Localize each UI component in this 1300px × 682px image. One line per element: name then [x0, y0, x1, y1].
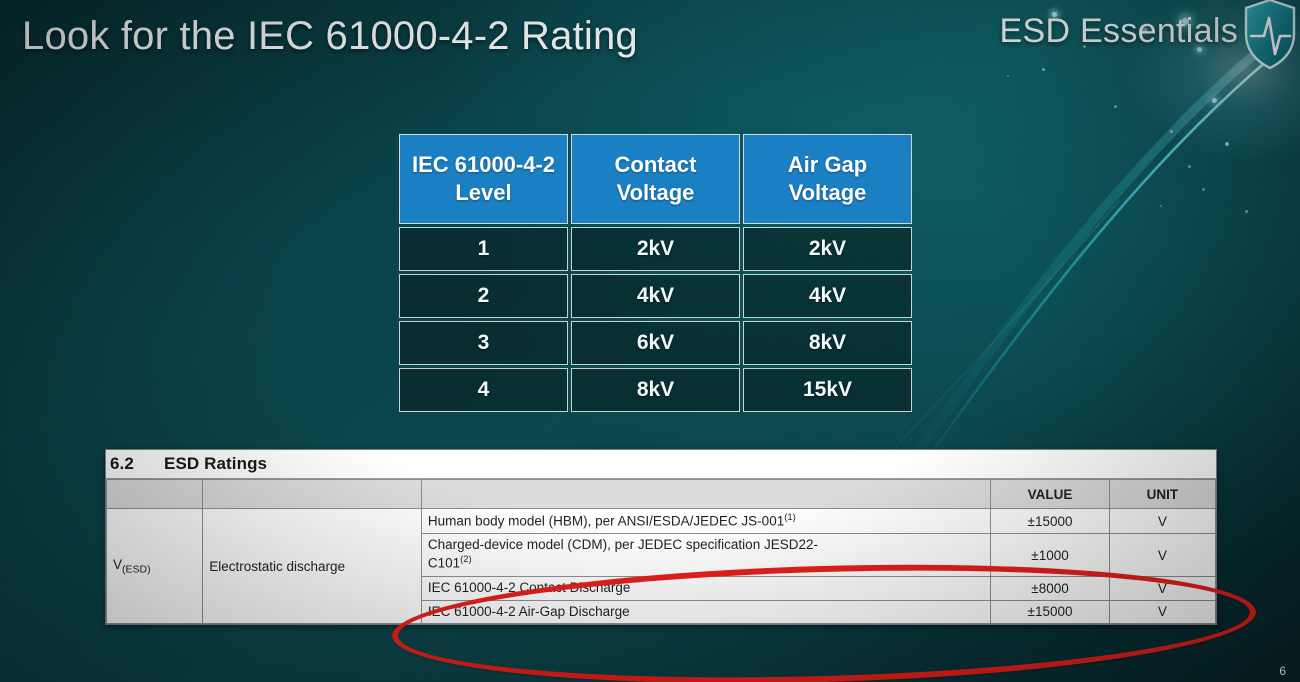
cell-airgap: 8kV	[743, 321, 912, 365]
sparkle-dot	[1042, 68, 1045, 71]
sparkle-dot	[1225, 142, 1229, 146]
sparkle-dot	[1170, 130, 1173, 133]
column-header-value: VALUE	[991, 480, 1109, 509]
section-title: ESD Ratings	[164, 454, 267, 473]
cell-level: 2	[399, 274, 568, 318]
table-row: 4 8kV 15kV	[399, 368, 912, 412]
column-header-level: IEC 61000-4-2 Level	[399, 134, 568, 224]
datasheet-section-heading: 6.2ESD Ratings	[106, 450, 1216, 479]
cell-value: ±8000	[991, 576, 1109, 600]
cell-condition: IEC 61000-4-2 Contact Discharge	[421, 576, 991, 600]
table-row: 2 4kV 4kV	[399, 274, 912, 318]
cell-unit: V	[1109, 509, 1215, 534]
cell-airgap: 2kV	[743, 227, 912, 271]
cell-value: ±1000	[991, 534, 1109, 576]
cell-contact: 2kV	[571, 227, 740, 271]
cell-condition: IEC 61000-4-2 Air-Gap Discharge	[421, 600, 991, 624]
symbol-subscript: (ESD)	[122, 564, 151, 576]
column-header-air-gap-voltage: Air Gap Voltage	[743, 134, 912, 224]
sparkle-dot	[1114, 105, 1117, 108]
table-row: 3 6kV 8kV	[399, 321, 912, 365]
page-number: 6	[1279, 664, 1286, 678]
table-row: 1 2kV 2kV	[399, 227, 912, 271]
column-header-blank-parameter	[203, 480, 422, 509]
shield-pulse-logo-icon	[1242, 0, 1298, 72]
cell-unit: V	[1109, 576, 1215, 600]
column-header-unit: UNIT	[1109, 480, 1215, 509]
sparkle-dot	[1160, 205, 1162, 207]
slide-title: Look for the IEC 61000-4-2 Rating	[22, 14, 638, 59]
cell-level: 4	[399, 368, 568, 412]
sparkle-dot	[1007, 75, 1009, 77]
table-header-row: VALUE UNIT	[107, 480, 1216, 509]
cell-contact: 8kV	[571, 368, 740, 412]
column-header-blank-symbol	[107, 480, 203, 509]
footnote-ref: (1)	[784, 512, 796, 523]
cell-unit: V	[1109, 534, 1215, 576]
cell-parameter: Electrostatic discharge	[203, 509, 422, 624]
brand-label: ESD Essentials	[999, 12, 1238, 51]
datasheet-excerpt: 6.2ESD Ratings VALUE UNIT V(ESD)	[105, 449, 1217, 625]
column-header-contact-voltage: Contact Voltage	[571, 134, 740, 224]
cell-unit: V	[1109, 600, 1215, 624]
esd-ratings-table: VALUE UNIT V(ESD) Electrostatic discharg…	[106, 479, 1216, 624]
cell-condition: Human body model (HBM), per ANSI/ESDA/JE…	[421, 509, 991, 534]
cell-value: ±15000	[991, 600, 1109, 624]
table-header-row: IEC 61000-4-2 Level Contact Voltage Air …	[399, 134, 912, 224]
cell-value: ±15000	[991, 509, 1109, 534]
cell-contact: 4kV	[571, 274, 740, 318]
cell-level: 3	[399, 321, 568, 365]
sparkle-dot	[1245, 210, 1248, 213]
cell-airgap: 15kV	[743, 368, 912, 412]
cell-symbol: V(ESD)	[107, 509, 203, 624]
sparkle-dot	[1202, 188, 1205, 191]
column-header-blank-condition	[421, 480, 991, 509]
section-number: 6.2	[110, 454, 164, 474]
cell-level: 1	[399, 227, 568, 271]
iec-level-table: IEC 61000-4-2 Level Contact Voltage Air …	[396, 131, 915, 415]
sparkle-dot	[1212, 98, 1217, 103]
slide: Look for the IEC 61000-4-2 Rating ESD Es…	[0, 0, 1300, 682]
cell-airgap: 4kV	[743, 274, 912, 318]
cell-contact: 6kV	[571, 321, 740, 365]
sparkle-dot	[1188, 165, 1191, 168]
footnote-ref: (2)	[460, 554, 472, 565]
cell-condition: Charged-device model (CDM), per JEDEC sp…	[421, 534, 991, 576]
table-row: V(ESD) Electrostatic discharge Human bod…	[107, 509, 1216, 534]
